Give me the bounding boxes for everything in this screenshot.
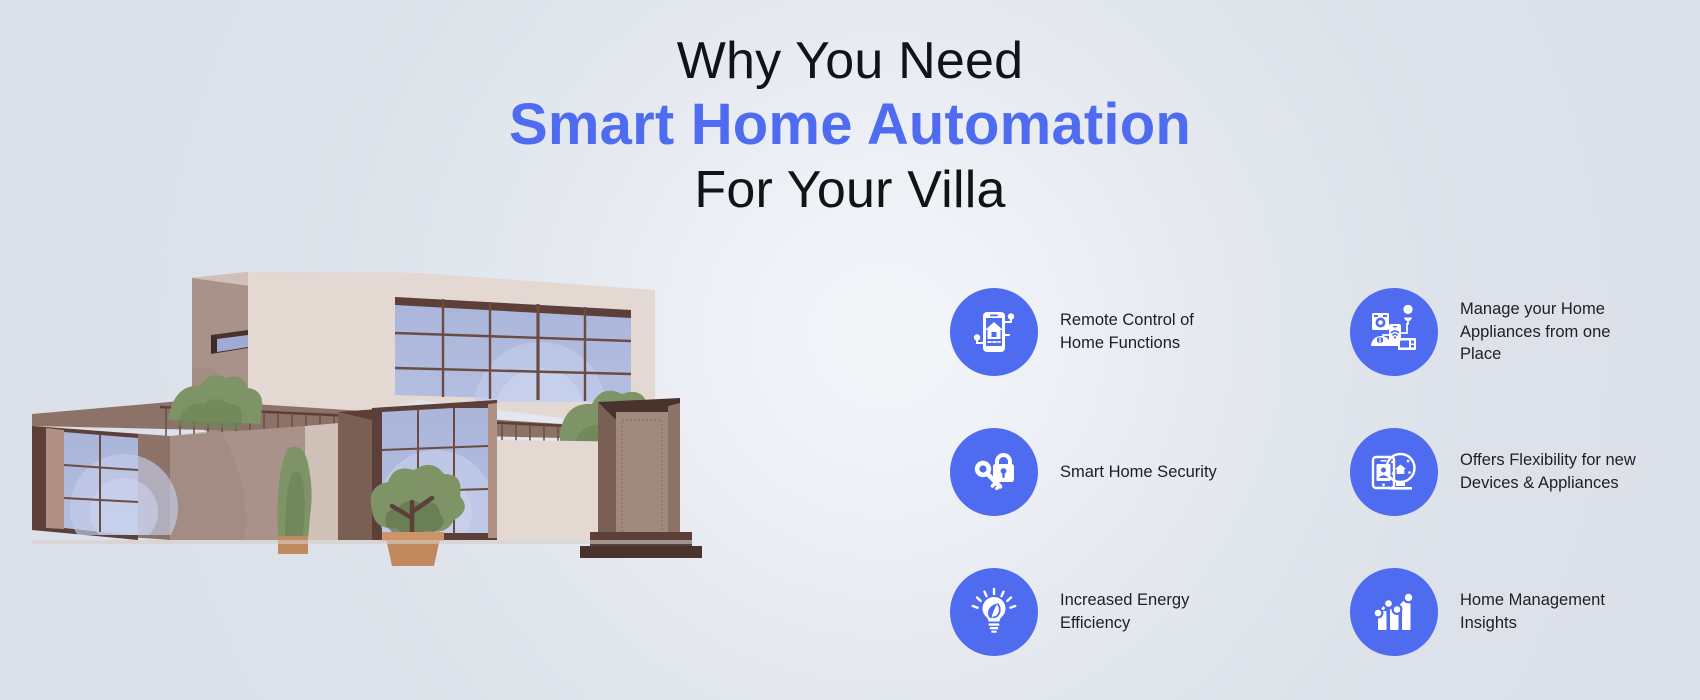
modern-villa-illustration xyxy=(20,240,820,575)
bar-chart-insights-icon xyxy=(1350,568,1438,656)
key-padlock-security-icon xyxy=(950,428,1038,516)
lightbulb-leaf-energy-icon xyxy=(950,568,1038,656)
feature-label: Smart Home Security xyxy=(1060,461,1217,484)
feature-home-security[interactable]: Smart Home Security xyxy=(950,402,1350,542)
feature-flexibility[interactable]: Offers Flexibility for new Devices & App… xyxy=(1350,402,1650,542)
headline-block: Why You Need Smart Home Automation For Y… xyxy=(0,32,1700,219)
cypress-shrub xyxy=(277,447,311,554)
feature-grid: Remote Control of Home Functions xyxy=(950,262,1650,682)
mid-wing-reveal xyxy=(338,412,372,540)
smartphone-home-control-icon xyxy=(950,288,1038,376)
tree-pot-rim xyxy=(382,532,444,541)
feature-manage-appliances[interactable]: Manage your Home Appliances from one Pla… xyxy=(1350,262,1650,402)
headline-line-3: For Your Villa xyxy=(509,161,1191,219)
feature-label: Offers Flexibility for new Devices & App… xyxy=(1460,449,1636,495)
entrance-door xyxy=(616,412,668,540)
cypress-pot xyxy=(278,536,308,554)
feature-label: Home Management Insights xyxy=(1460,589,1605,635)
door-reveal xyxy=(598,402,616,540)
feature-remote-control[interactable]: Remote Control of Home Functions xyxy=(950,262,1350,402)
headline-line-1: Why You Need xyxy=(509,32,1191,90)
door-side-jamb xyxy=(668,403,680,540)
feature-management-insights[interactable]: Home Management Insights xyxy=(1350,542,1650,682)
ground-line xyxy=(32,540,692,544)
feature-label: Remote Control of Home Functions xyxy=(1060,309,1194,355)
feature-energy-efficiency[interactable]: Increased Energy Efficiency xyxy=(950,542,1350,682)
mid-window-side-reveal xyxy=(488,403,497,538)
infographic-canvas: Why You Need Smart Home Automation For Y… xyxy=(0,0,1700,700)
headline-line-2-accent: Smart Home Automation xyxy=(509,90,1191,161)
left-window-reveal xyxy=(46,428,64,529)
connected-appliances-icon xyxy=(1350,288,1438,376)
villa-svg xyxy=(20,240,820,570)
door-step-lower xyxy=(580,546,702,558)
tablet-globe-flexibility-icon xyxy=(1350,428,1438,516)
feature-label: Increased Energy Efficiency xyxy=(1060,589,1189,635)
feature-label: Manage your Home Appliances from one Pla… xyxy=(1460,298,1650,366)
